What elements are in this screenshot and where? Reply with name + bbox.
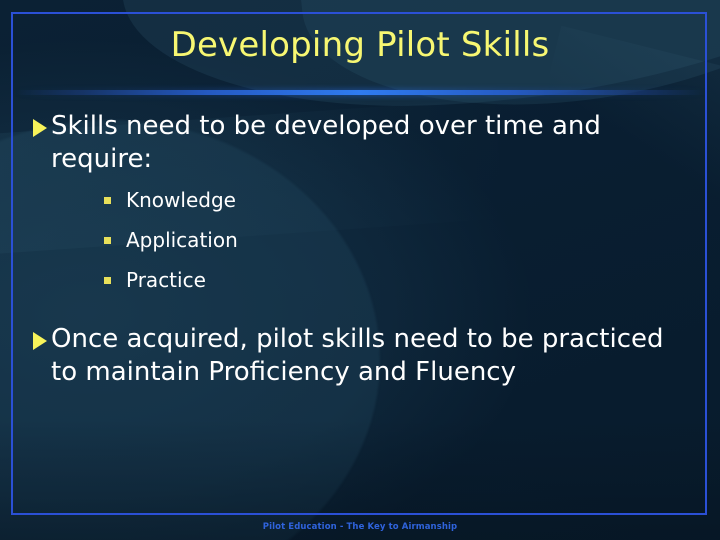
sub-bullet-item-label: Knowledge	[126, 187, 236, 213]
square-icon	[104, 237, 111, 244]
sub-bullet-item: Practice	[104, 267, 693, 293]
triangle-right-icon	[33, 332, 47, 350]
presentation-slide: Developing Pilot Skills Skills need to b…	[0, 0, 720, 540]
slide-footer: Pilot Education - The Key to Airmanship	[0, 522, 720, 532]
bullet-item-label: Skills need to be developed over time an…	[51, 110, 693, 176]
title-divider	[14, 90, 706, 95]
sub-bullet-item-label: Application	[126, 227, 238, 253]
bullet-item: Once acquired, pilot skills need to be p…	[33, 323, 693, 389]
sub-bullet-item: Application	[104, 227, 693, 253]
bullet-item: Skills need to be developed over time an…	[33, 110, 693, 176]
square-icon	[104, 277, 111, 284]
sub-bullet-item: Knowledge	[104, 187, 693, 213]
square-icon	[104, 197, 111, 204]
bullet-item-label: Once acquired, pilot skills need to be p…	[51, 323, 693, 389]
triangle-right-icon	[33, 119, 47, 137]
slide-title: Developing Pilot Skills	[0, 25, 720, 65]
sub-bullet-item-label: Practice	[126, 267, 206, 293]
slide-body: Skills need to be developed over time an…	[33, 110, 693, 391]
sub-bullet-list: Knowledge Application Practice	[33, 187, 693, 293]
